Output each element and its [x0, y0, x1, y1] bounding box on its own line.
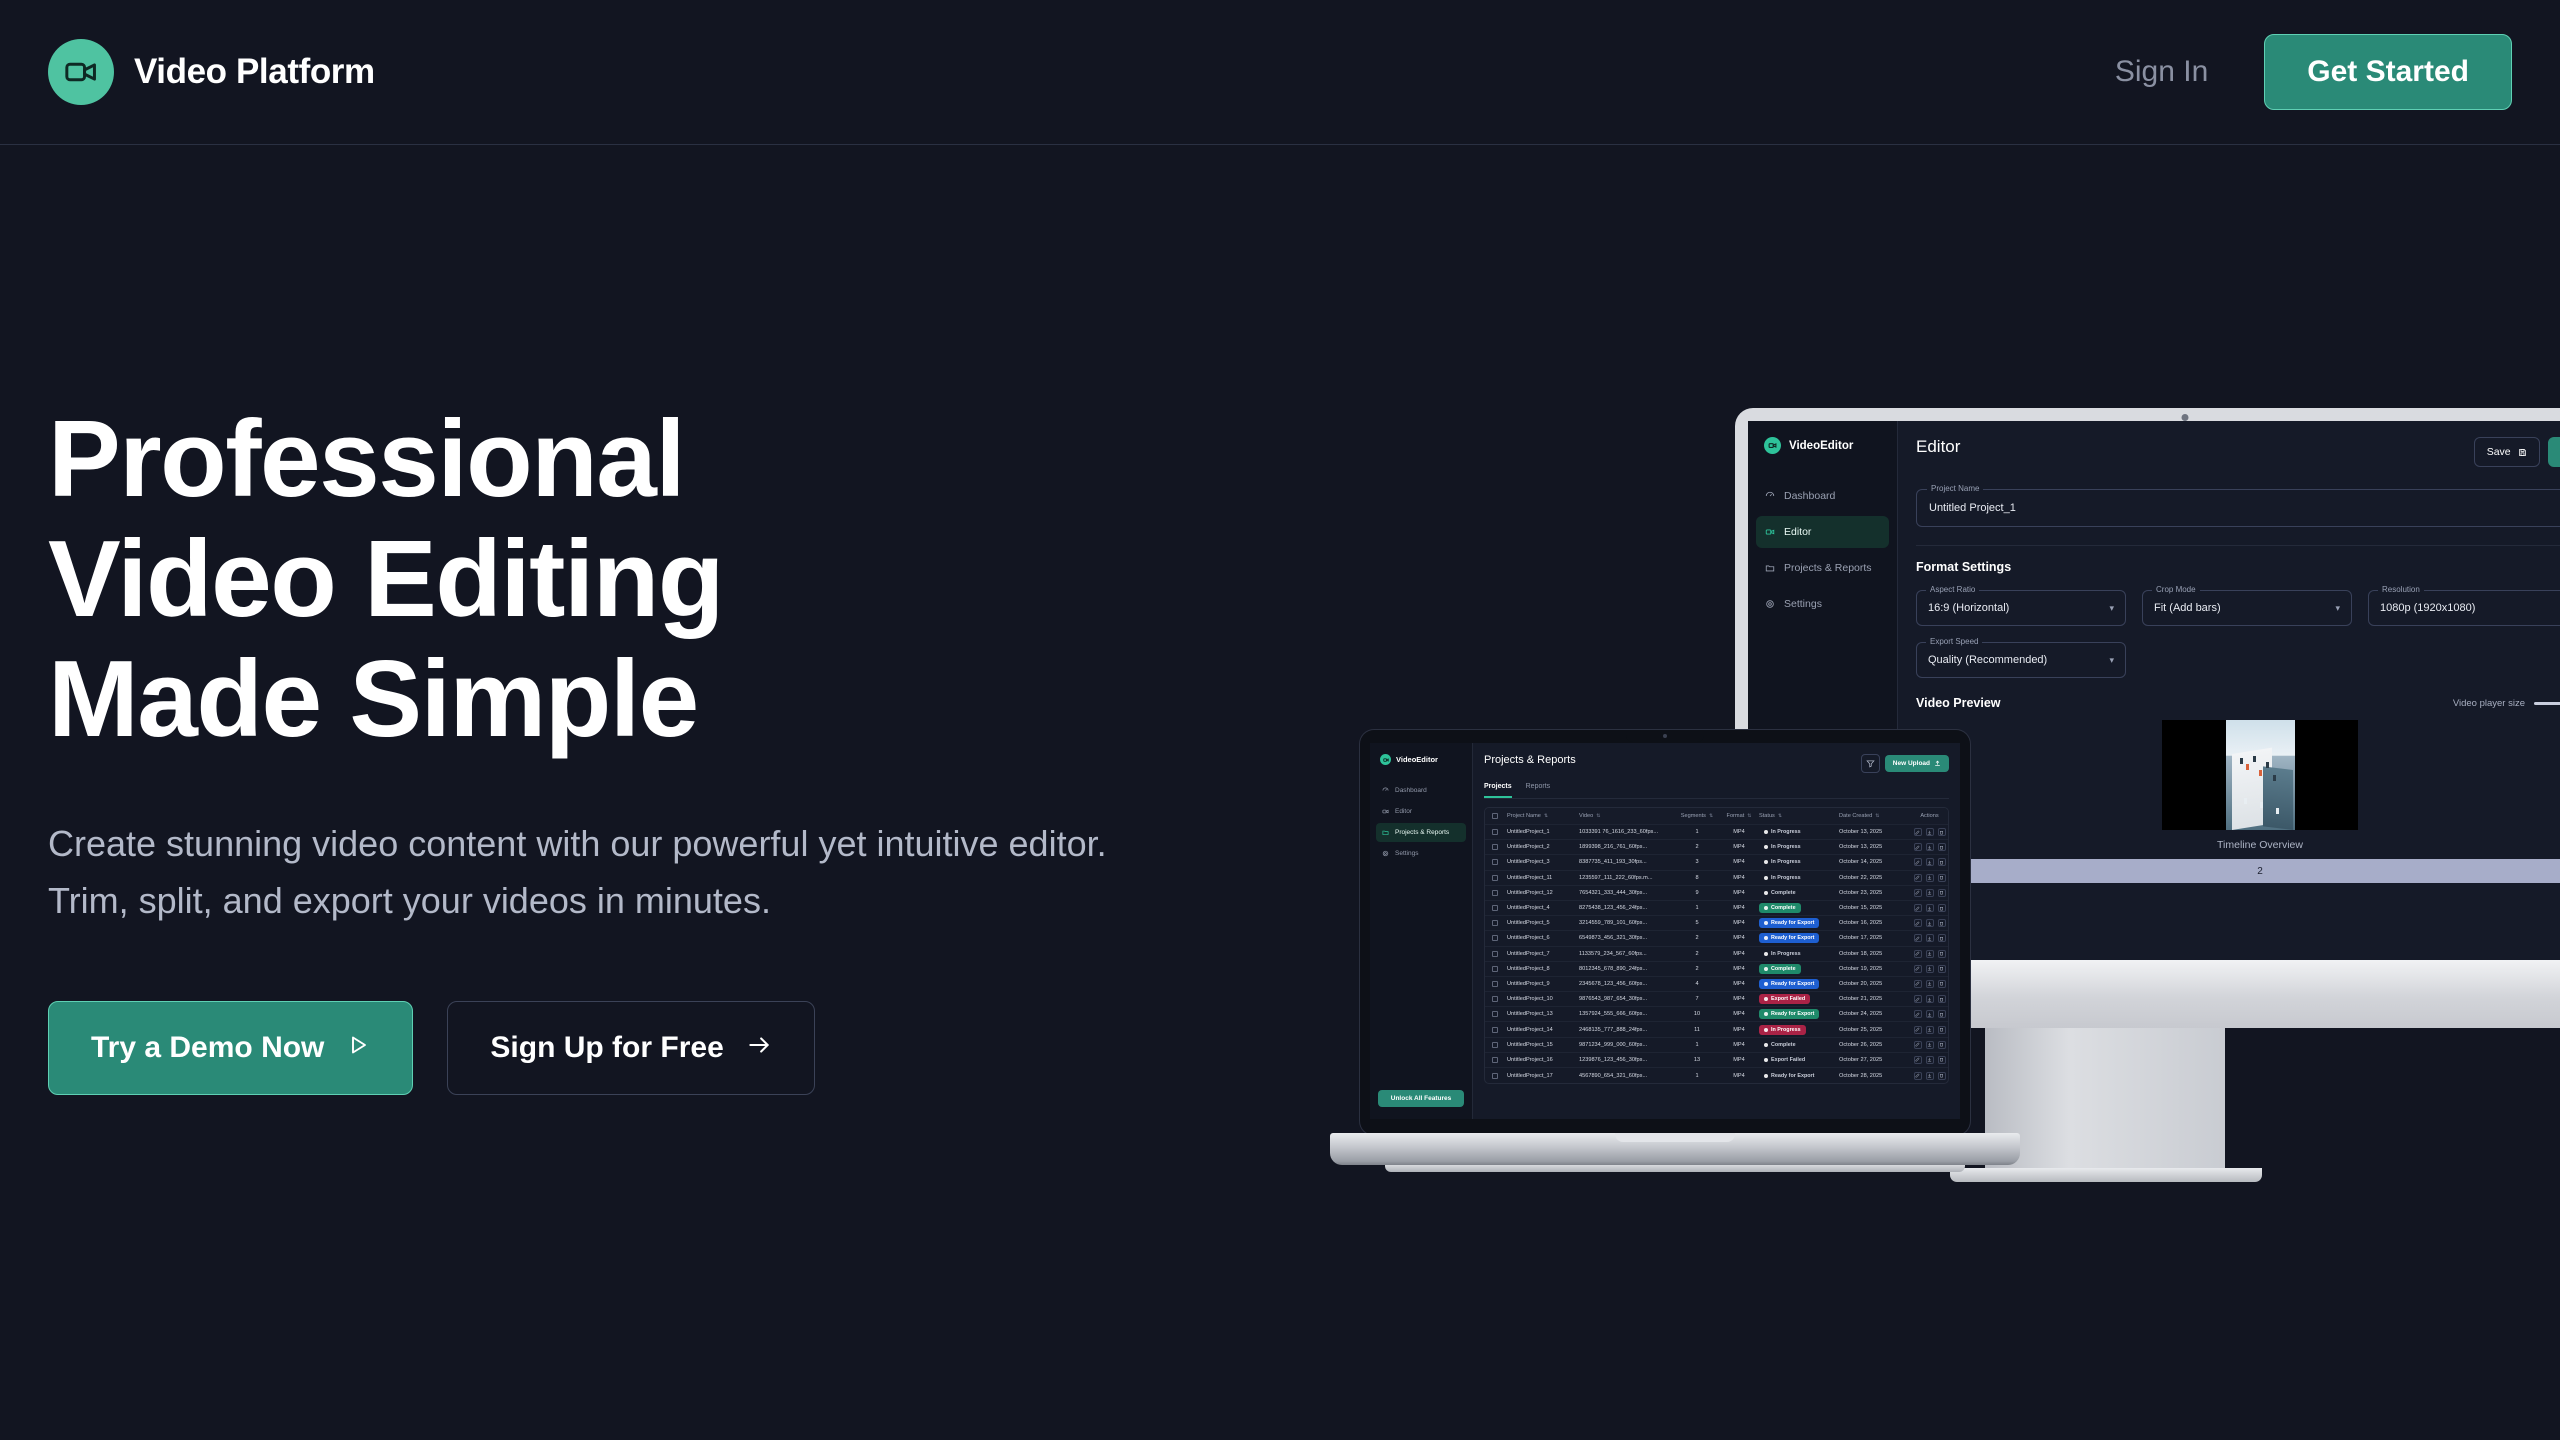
- product-mockups: VideoEditor Dashboard: [1330, 0, 2560, 1440]
- cell-video: 8012345_678_890_24fps...: [1579, 966, 1675, 972]
- download-icon[interactable]: [1926, 965, 1934, 973]
- chevron-down-icon: ▾: [2109, 655, 2114, 666]
- brand-name: Video Platform: [134, 52, 375, 92]
- trash-icon[interactable]: [1938, 874, 1946, 882]
- table-row[interactable]: UntitledProject_142468135_777_888_24fps.…: [1485, 1022, 1948, 1037]
- player-size-control[interactable]: Video player size: [2453, 698, 2560, 709]
- sidebar-label: Settings: [1784, 598, 1822, 610]
- cell-format: MP4: [1719, 859, 1759, 865]
- cell-segments: 9: [1675, 890, 1719, 896]
- play-triangle-icon: [346, 1033, 370, 1063]
- status-badge: In Progress: [1759, 1025, 1806, 1035]
- cell-video: 1235597_111_222_60fps.m...: [1579, 875, 1675, 881]
- project-name-value: Untitled Project_1: [1929, 502, 2016, 514]
- editor-nav: Dashboard Editor Projects: [1748, 480, 1897, 620]
- trash-icon[interactable]: [1938, 1041, 1946, 1049]
- cell-actions: [1911, 980, 1948, 988]
- trash-icon[interactable]: [1938, 965, 1946, 973]
- cell-status: Ready for Export: [1759, 1071, 1839, 1081]
- editor-topbar: Editor Save Export: [1898, 437, 2560, 467]
- download-icon[interactable]: [1926, 858, 1934, 866]
- cell-status: In Progress: [1759, 857, 1839, 867]
- table-row[interactable]: UntitledProject_53214559_789_101_60fps..…: [1485, 916, 1948, 931]
- project-name-field[interactable]: Project Name Untitled Project_1: [1916, 489, 2560, 527]
- trash-icon[interactable]: [1938, 919, 1946, 927]
- resolution-select[interactable]: Resolution 1080p (1920x1080) ▾: [2368, 590, 2560, 626]
- table-row[interactable]: UntitledProject_88012345_678_890_24fps..…: [1485, 962, 1948, 977]
- projects-main: Projects & Reports New Upload: [1473, 743, 1960, 1119]
- cell-video: 1899398_216_761_60fps...: [1579, 844, 1675, 850]
- download-icon[interactable]: [1926, 980, 1934, 988]
- row-checkbox[interactable]: [1485, 890, 1505, 896]
- projects-sidebar: VideoEditor Dashboard Editor: [1370, 743, 1473, 1119]
- cell-actions: [1911, 1010, 1948, 1018]
- cell-project-name: UntitledProject_5: [1505, 920, 1579, 926]
- cell-date-created: October 21, 2025: [1839, 996, 1911, 1002]
- window-shape: [2244, 798, 2247, 804]
- trash-icon[interactable]: [1938, 1026, 1946, 1034]
- row-checkbox[interactable]: [1485, 875, 1505, 881]
- row-checkbox[interactable]: [1485, 951, 1505, 957]
- cell-status: Export Failed: [1759, 1055, 1839, 1065]
- cell-video: 1239876_123_456_30fps...: [1579, 1057, 1675, 1063]
- download-icon[interactable]: [1926, 843, 1934, 851]
- laptop-lid: VideoEditor Dashboard Editor: [1360, 730, 1970, 1135]
- hero-subtitle: Create stunning video content with our p…: [48, 816, 1108, 930]
- edit-icon[interactable]: [1914, 919, 1922, 927]
- cell-format: MP4: [1719, 1042, 1759, 1048]
- table-row[interactable]: UntitledProject_92345678_123_456_60fps..…: [1485, 977, 1948, 992]
- edit-icon[interactable]: [1914, 889, 1922, 897]
- edit-icon[interactable]: [1914, 874, 1922, 882]
- monitor-stand-neck: [1985, 1028, 2225, 1176]
- select-all-checkbox[interactable]: [1485, 813, 1505, 819]
- cell-date-created: October 13, 2025: [1839, 844, 1911, 850]
- resolution-value: 1080p (1920x1080): [2380, 602, 2475, 614]
- row-checkbox[interactable]: [1485, 1011, 1505, 1017]
- cell-video: 8275438_123_456_24fps...: [1579, 905, 1675, 911]
- cell-actions: [1911, 1041, 1948, 1049]
- cell-project-name: UntitledProject_3: [1505, 859, 1579, 865]
- cell-segments: 4: [1675, 981, 1719, 987]
- row-checkbox[interactable]: [1485, 996, 1505, 1002]
- floppy-disk-icon: [2518, 448, 2527, 457]
- status-badge: Ready for Export: [1759, 1071, 1819, 1081]
- sidebar-item-dashboard[interactable]: Dashboard: [1756, 480, 1889, 512]
- cell-video: 1357924_555_666_60fps...: [1579, 1011, 1675, 1017]
- row-checkbox[interactable]: [1485, 1057, 1505, 1063]
- cell-status: Ready for Export: [1759, 918, 1839, 928]
- video-preview-header: Video Preview Video player size: [1916, 696, 2560, 710]
- cell-video: 6549873_456_321_30fps...: [1579, 935, 1675, 941]
- new-upload-button[interactable]: New Upload: [1885, 755, 1949, 772]
- table-row[interactable]: UntitledProject_21899398_216_761_60fps..…: [1485, 840, 1948, 855]
- cell-format: MP4: [1719, 875, 1759, 881]
- download-icon[interactable]: [1926, 1010, 1934, 1018]
- try-demo-label: Try a Demo Now: [91, 1033, 324, 1063]
- edit-icon[interactable]: [1914, 843, 1922, 851]
- cell-video: 9876543_987_654_30fps...: [1579, 996, 1675, 1002]
- sidebar-item-projects-reports[interactable]: Projects & Reports: [1376, 823, 1466, 842]
- cell-date-created: October 26, 2025: [1839, 1042, 1911, 1048]
- trash-icon[interactable]: [1938, 950, 1946, 958]
- try-demo-button[interactable]: Try a Demo Now: [48, 1001, 413, 1095]
- edit-icon[interactable]: [1914, 965, 1922, 973]
- cell-video: 9871234_999_000_60fps...: [1579, 1042, 1675, 1048]
- crop-mode-select[interactable]: Crop Mode Fit (Add bars) ▾: [2142, 590, 2352, 626]
- cell-date-created: October 13, 2025: [1839, 829, 1911, 835]
- cell-segments: 7: [1675, 996, 1719, 1002]
- export-speed-select[interactable]: Export Speed Quality (Recommended) ▾: [1916, 642, 2126, 678]
- edit-icon[interactable]: [1914, 904, 1922, 912]
- sidebar-item-settings[interactable]: Settings: [1376, 844, 1466, 863]
- table-row[interactable]: UntitledProject_161239876_123_456_30fps.…: [1485, 1053, 1948, 1068]
- cell-date-created: October 16, 2025: [1839, 920, 1911, 926]
- cell-format: MP4: [1719, 1027, 1759, 1033]
- crop-mode-label: Crop Mode: [2152, 585, 2200, 594]
- table-body: UntitledProject_11033391 76_1616_233_60f…: [1485, 825, 1948, 1083]
- cell-video: 2345678_123_456_60fps...: [1579, 981, 1675, 987]
- cell-project-name: UntitledProject_11: [1505, 875, 1579, 881]
- row-checkbox[interactable]: [1485, 844, 1505, 850]
- trash-icon[interactable]: [1938, 1056, 1946, 1064]
- cell-status: In Progress: [1759, 1025, 1839, 1035]
- row-checkbox[interactable]: [1485, 829, 1505, 835]
- column-header-status[interactable]: Status⇅: [1759, 813, 1839, 819]
- trash-icon[interactable]: [1938, 858, 1946, 866]
- heading-line-1: Professional: [48, 400, 1128, 520]
- cell-actions: [1911, 828, 1948, 836]
- download-icon[interactable]: [1926, 1056, 1934, 1064]
- cell-format: MP4: [1719, 996, 1759, 1002]
- sidebar-item-editor[interactable]: Editor: [1756, 516, 1889, 548]
- sign-up-button[interactable]: Sign Up for Free: [447, 1001, 814, 1095]
- player-size-slider[interactable]: [2534, 702, 2560, 705]
- table-row[interactable]: UntitledProject_109876543_987_654_30fps.…: [1485, 992, 1948, 1007]
- trash-icon[interactable]: [1938, 1072, 1946, 1080]
- download-icon[interactable]: [1926, 874, 1934, 882]
- cell-segments: 2: [1675, 951, 1719, 957]
- laptop-mockup: VideoEditor Dashboard Editor: [1330, 730, 2020, 1200]
- download-icon[interactable]: [1926, 950, 1934, 958]
- edit-icon[interactable]: [1914, 1010, 1922, 1018]
- edit-icon[interactable]: [1914, 1072, 1922, 1080]
- projects-topbar: Projects & Reports New Upload: [1484, 754, 1949, 773]
- cell-status: In Progress: [1759, 842, 1839, 852]
- cell-actions: [1911, 1072, 1948, 1080]
- trash-icon[interactable]: [1938, 843, 1946, 851]
- table-row[interactable]: UntitledProject_38387735_411_193_30fps..…: [1485, 855, 1948, 870]
- laptop-base: [1330, 1133, 2020, 1165]
- page-title: Professional Video Editing Made Simple: [48, 400, 1128, 760]
- aspect-ratio-value: 16:9 (Horizontal): [1928, 602, 2009, 614]
- window-shape: [2246, 764, 2249, 770]
- table-row[interactable]: UntitledProject_48275438_123_456_24fps..…: [1485, 901, 1948, 916]
- row-checkbox[interactable]: [1485, 981, 1505, 987]
- edit-icon[interactable]: [1914, 1041, 1922, 1049]
- cell-date-created: October 25, 2025: [1839, 1027, 1911, 1033]
- player-size-label: Video player size: [2453, 698, 2525, 709]
- window-shape: [2260, 802, 2263, 808]
- row-checkbox[interactable]: [1485, 935, 1505, 941]
- row-checkbox[interactable]: [1485, 905, 1505, 911]
- tab-projects[interactable]: Projects: [1484, 783, 1512, 798]
- edit-icon[interactable]: [1914, 934, 1922, 942]
- chevron-down-icon: ▾: [2335, 603, 2340, 614]
- chevron-down-icon: ▾: [2109, 603, 2114, 614]
- cell-segments: 2: [1675, 966, 1719, 972]
- cell-status: In Progress: [1759, 873, 1839, 883]
- cell-video: 4567890_654_321_60fps...: [1579, 1073, 1675, 1079]
- edit-icon[interactable]: [1914, 1056, 1922, 1064]
- cell-project-name: UntitledProject_13: [1505, 1011, 1579, 1017]
- cell-format: MP4: [1719, 1073, 1759, 1079]
- table-row[interactable]: UntitledProject_159871234_999_000_60fps.…: [1485, 1038, 1948, 1053]
- row-checkbox[interactable]: [1485, 920, 1505, 926]
- edit-icon[interactable]: [1914, 950, 1922, 958]
- cell-format: MP4: [1719, 844, 1759, 850]
- video-camera-icon: [1382, 808, 1389, 815]
- aspect-ratio-select[interactable]: Aspect Ratio 16:9 (Horizontal) ▾: [1916, 590, 2126, 626]
- row-checkbox[interactable]: [1485, 859, 1505, 865]
- video-camera-icon: [1380, 754, 1391, 765]
- cell-format: MP4: [1719, 951, 1759, 957]
- cell-project-name: UntitledProject_4: [1505, 905, 1579, 911]
- cell-date-created: October 24, 2025: [1839, 1011, 1911, 1017]
- brand[interactable]: Video Platform: [48, 39, 375, 105]
- cell-project-name: UntitledProject_2: [1505, 844, 1579, 850]
- table-row[interactable]: UntitledProject_66549873_456_321_30fps..…: [1485, 931, 1948, 946]
- sidebar-item-dashboard[interactable]: Dashboard: [1376, 781, 1466, 800]
- upload-icon: [1934, 760, 1941, 767]
- download-icon[interactable]: [1926, 919, 1934, 927]
- sidebar-label: Editor: [1395, 808, 1412, 815]
- crop-mode-value: Fit (Add bars): [2154, 602, 2221, 614]
- video-camera-icon: [1765, 527, 1775, 537]
- webcam-icon: [2182, 414, 2189, 421]
- format-settings-grid: Aspect Ratio 16:9 (Horizontal) ▾ Crop Mo…: [1916, 590, 2560, 678]
- cell-format: MP4: [1719, 981, 1759, 987]
- cell-format: MP4: [1719, 890, 1759, 896]
- tab-reports[interactable]: Reports: [1526, 783, 1551, 798]
- edit-icon[interactable]: [1914, 828, 1922, 836]
- arrow-right-icon: [746, 1032, 772, 1064]
- edit-icon[interactable]: [1914, 858, 1922, 866]
- unlock-all-features-button[interactable]: Unlock All Features: [1378, 1090, 1464, 1107]
- aspect-ratio-label: Aspect Ratio: [1926, 585, 1979, 594]
- cell-format: MP4: [1719, 1057, 1759, 1063]
- window-shape: [2240, 758, 2243, 764]
- table-row[interactable]: UntitledProject_174567890_654_321_60fps.…: [1485, 1068, 1948, 1083]
- edit-icon[interactable]: [1914, 1026, 1922, 1034]
- trash-icon[interactable]: [1938, 904, 1946, 912]
- trash-icon[interactable]: [1938, 934, 1946, 942]
- row-checkbox[interactable]: [1485, 1042, 1505, 1048]
- laptop-notch: [1626, 730, 1704, 742]
- trash-icon[interactable]: [1938, 889, 1946, 897]
- row-checkbox[interactable]: [1485, 1073, 1505, 1079]
- gear-icon: [1382, 850, 1389, 857]
- cell-actions: [1911, 889, 1948, 897]
- video-frame-thumbnail: [2226, 720, 2295, 830]
- cell-status: Ready for Export: [1759, 933, 1839, 943]
- cell-actions: [1911, 919, 1948, 927]
- sidebar-label: Settings: [1395, 850, 1419, 857]
- cell-actions: [1911, 1056, 1948, 1064]
- row-checkbox[interactable]: [1485, 1027, 1505, 1033]
- cell-actions: [1911, 934, 1948, 942]
- sign-up-label: Sign Up for Free: [490, 1033, 723, 1063]
- download-icon[interactable]: [1926, 1026, 1934, 1034]
- projects-table: Project Name⇅ Video⇅ Segments⇅ Format⇅ S…: [1484, 807, 1949, 1084]
- cell-video: 7654321_333_444_30fps...: [1579, 890, 1675, 896]
- status-badge: In Progress: [1759, 949, 1806, 959]
- column-header-segments[interactable]: Segments⇅: [1675, 813, 1719, 819]
- cell-segments: 10: [1675, 1011, 1719, 1017]
- table-row[interactable]: UntitledProject_127654321_333_444_30fps.…: [1485, 886, 1948, 901]
- projects-nav: Dashboard Editor Projects & Reports: [1370, 781, 1472, 863]
- building-shape: [2263, 766, 2293, 830]
- cell-status: In Progress: [1759, 949, 1839, 959]
- download-icon[interactable]: [1926, 934, 1934, 942]
- status-badge: Complete: [1759, 903, 1801, 913]
- cell-status: Complete: [1759, 964, 1839, 974]
- cell-status: Export Failed: [1759, 994, 1839, 1004]
- video-camera-icon: [48, 39, 114, 105]
- status-badge: Complete: [1759, 964, 1801, 974]
- cell-format: MP4: [1719, 1011, 1759, 1017]
- hero-cta-group: Try a Demo Now Sign Up for Free: [48, 1001, 1128, 1095]
- window-shape: [2266, 762, 2269, 768]
- projects-brand: VideoEditor: [1370, 754, 1472, 781]
- trash-icon[interactable]: [1938, 980, 1946, 988]
- export-button[interactable]: Export: [2548, 437, 2560, 467]
- column-header-project-name[interactable]: Project Name⇅: [1505, 813, 1579, 819]
- folder-icon: [1765, 563, 1775, 573]
- cell-date-created: October 22, 2025: [1839, 875, 1911, 881]
- status-badge: Ready for Export: [1759, 1009, 1819, 1019]
- cell-actions: [1911, 874, 1948, 882]
- heading-line-3: Made Simple: [48, 640, 1128, 760]
- cell-segments: 13: [1675, 1057, 1719, 1063]
- editor-actions: Save Export: [2474, 437, 2560, 467]
- cell-project-name: UntitledProject_12: [1505, 890, 1579, 896]
- download-icon[interactable]: [1926, 1072, 1934, 1080]
- cell-date-created: October 17, 2025: [1839, 935, 1911, 941]
- sidebar-item-projects-reports[interactable]: Projects & Reports: [1756, 552, 1889, 584]
- cell-project-name: UntitledProject_10: [1505, 996, 1579, 1002]
- cell-project-name: UntitledProject_14: [1505, 1027, 1579, 1033]
- column-header-format[interactable]: Format⇅: [1719, 813, 1759, 819]
- status-badge: Complete: [1759, 1040, 1801, 1050]
- column-header-video[interactable]: Video⇅: [1579, 813, 1675, 819]
- cell-project-name: UntitledProject_1: [1505, 829, 1579, 835]
- cell-status: Ready for Export: [1759, 979, 1839, 989]
- export-speed-label: Export Speed: [1926, 637, 1982, 646]
- cell-segments: 1: [1675, 829, 1719, 835]
- cell-format: MP4: [1719, 966, 1759, 972]
- sidebar-item-settings[interactable]: Settings: [1756, 588, 1889, 620]
- trash-icon[interactable]: [1938, 995, 1946, 1003]
- window-shape: [2259, 770, 2262, 776]
- cell-format: MP4: [1719, 905, 1759, 911]
- cell-segments: 2: [1675, 844, 1719, 850]
- cell-format: MP4: [1719, 829, 1759, 835]
- cell-format: MP4: [1719, 920, 1759, 926]
- cell-date-created: October 20, 2025: [1839, 981, 1911, 987]
- cell-actions: [1911, 950, 1948, 958]
- table-row[interactable]: UntitledProject_71133579_234_567_60fps..…: [1485, 947, 1948, 962]
- projects-top-actions: New Upload: [1861, 754, 1949, 773]
- table-row[interactable]: UntitledProject_11033391 76_1616_233_60f…: [1485, 825, 1948, 840]
- cell-segments: 1: [1675, 1042, 1719, 1048]
- cell-video: 3214559_789_101_60fps...: [1579, 920, 1675, 926]
- editor-brand-name: VideoEditor: [1789, 440, 1853, 452]
- row-checkbox[interactable]: [1485, 966, 1505, 972]
- table-row[interactable]: UntitledProject_111235597_111_222_60fps.…: [1485, 871, 1948, 886]
- cell-status: Complete: [1759, 888, 1839, 898]
- sidebar-item-editor[interactable]: Editor: [1376, 802, 1466, 821]
- download-icon[interactable]: [1926, 828, 1934, 836]
- edit-icon[interactable]: [1914, 995, 1922, 1003]
- gear-icon: [1765, 599, 1775, 609]
- projects-brand-name: VideoEditor: [1396, 755, 1438, 764]
- download-icon[interactable]: [1926, 904, 1934, 912]
- save-button[interactable]: Save: [2474, 437, 2540, 467]
- cell-project-name: UntitledProject_6: [1505, 935, 1579, 941]
- download-icon[interactable]: [1926, 1041, 1934, 1049]
- status-badge: In Progress: [1759, 827, 1806, 837]
- cell-actions: [1911, 904, 1948, 912]
- trash-icon[interactable]: [1938, 828, 1946, 836]
- projects-tabs: Projects Reports: [1484, 783, 1949, 799]
- filter-button[interactable]: [1861, 754, 1880, 773]
- status-badge: In Progress: [1759, 842, 1806, 852]
- cell-date-created: October 19, 2025: [1839, 966, 1911, 972]
- resolution-label: Resolution: [2378, 585, 2424, 594]
- sidebar-label: Editor: [1784, 526, 1811, 538]
- cell-video: 8387735_411_193_30fps...: [1579, 859, 1675, 865]
- cell-actions: [1911, 843, 1948, 851]
- status-badge: In Progress: [1759, 873, 1806, 883]
- edit-icon[interactable]: [1914, 980, 1922, 988]
- video-preview-player[interactable]: [2162, 720, 2358, 830]
- cell-segments: 1: [1675, 905, 1719, 911]
- trash-icon[interactable]: [1938, 1010, 1946, 1018]
- table-header-row: Project Name⇅ Video⇅ Segments⇅ Format⇅ S…: [1485, 808, 1948, 825]
- status-badge: Export Failed: [1759, 1055, 1810, 1065]
- download-icon[interactable]: [1926, 995, 1934, 1003]
- status-badge: Ready for Export: [1759, 979, 1819, 989]
- cell-status: Ready for Export: [1759, 1009, 1839, 1019]
- table-row[interactable]: UntitledProject_131357924_555_666_60fps.…: [1485, 1007, 1948, 1022]
- column-header-date-created[interactable]: Date Created⇅: [1839, 813, 1911, 819]
- cell-date-created: October 27, 2025: [1839, 1057, 1911, 1063]
- projects-app: VideoEditor Dashboard Editor: [1370, 743, 1960, 1119]
- cell-date-created: October 28, 2025: [1839, 1073, 1911, 1079]
- status-badge: In Progress: [1759, 857, 1806, 867]
- cell-actions: [1911, 858, 1948, 866]
- window-shape: [2276, 808, 2279, 814]
- window-shape: [2273, 775, 2276, 781]
- save-label: Save: [2487, 446, 2511, 458]
- cell-status: Complete: [1759, 1040, 1839, 1050]
- heading-line-2: Video Editing: [48, 520, 1128, 640]
- download-icon[interactable]: [1926, 889, 1934, 897]
- editor-brand: VideoEditor: [1748, 437, 1897, 480]
- cell-status: Complete: [1759, 903, 1839, 913]
- cell-date-created: October 23, 2025: [1839, 890, 1911, 896]
